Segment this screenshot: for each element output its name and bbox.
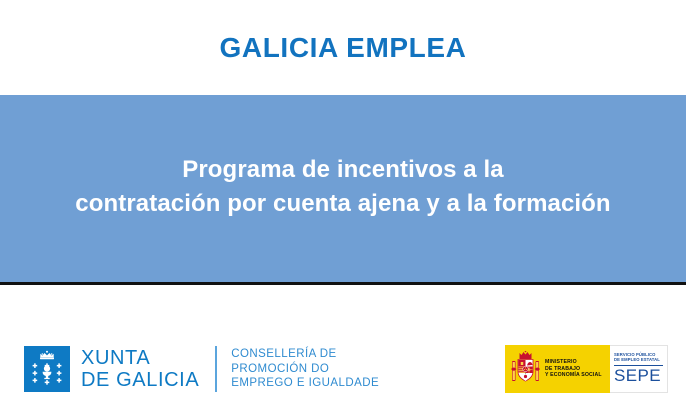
banner-text-block: Programa de incentivos a la contratación… <box>0 153 686 221</box>
xunta-wordmark-line-2: DE GALICIA <box>81 369 199 391</box>
lockup-divider <box>215 346 217 392</box>
ministerio-de-trabajo-logo: MINISTERIO DE TRABAJO Y ECONOMÍA SOCIAL <box>505 345 610 393</box>
header-area: GALICIA EMPLEA <box>0 0 686 95</box>
government-logo-block: MINISTERIO DE TRABAJO Y ECONOMÍA SOCIAL … <box>505 345 668 393</box>
xunta-emblem-icon <box>24 346 70 392</box>
xunta-de-galicia-logo: XUNTA DE GALICIA CONSELLERÍA DE PROMOCIÓ… <box>24 346 379 392</box>
ministerio-wordmark: MINISTERIO DE TRABAJO Y ECONOMÍA SOCIAL <box>545 359 602 379</box>
conselleria-line-2: PROMOCIÓN DO <box>231 362 379 377</box>
footer-logo-bar: XUNTA DE GALICIA CONSELLERÍA DE PROMOCIÓ… <box>0 288 686 410</box>
conselleria-line-3: EMPREGO E IGUALDADE <box>231 376 379 391</box>
sepe-acronym: SEPE <box>614 367 663 385</box>
ministerio-line-3: Y ECONOMÍA SOCIAL <box>545 372 602 379</box>
sepe-tagline-line-2: DE EMPLEO ESTATAL <box>614 357 663 362</box>
conselleria-wordmark: CONSELLERÍA DE PROMOCIÓN DO EMPREGO E IG… <box>231 347 379 391</box>
banner-line-2: contratación por cuenta ajena y a la for… <box>0 187 686 221</box>
sepe-logo: SERVICIO PÚBLICO DE EMPLEO ESTATAL SEPE <box>610 345 668 393</box>
spanish-coat-of-arms-icon <box>511 351 540 387</box>
xunta-wordmark-line-1: XUNTA <box>81 347 199 369</box>
conselleria-line-1: CONSELLERÍA DE <box>231 347 379 362</box>
sepe-tagline: SERVICIO PÚBLICO DE EMPLEO ESTATAL <box>614 352 663 363</box>
page-title: GALICIA EMPLEA <box>0 31 686 65</box>
program-banner: Programa de incentivos a la contratación… <box>0 95 686 285</box>
ministerio-line-1: MINISTERIO <box>545 359 602 366</box>
xunta-wordmark: XUNTA DE GALICIA <box>81 347 199 391</box>
poster-canvas: GALICIA EMPLEA Programa de incentivos a … <box>0 0 686 410</box>
banner-line-1: Programa de incentivos a la <box>0 153 686 187</box>
